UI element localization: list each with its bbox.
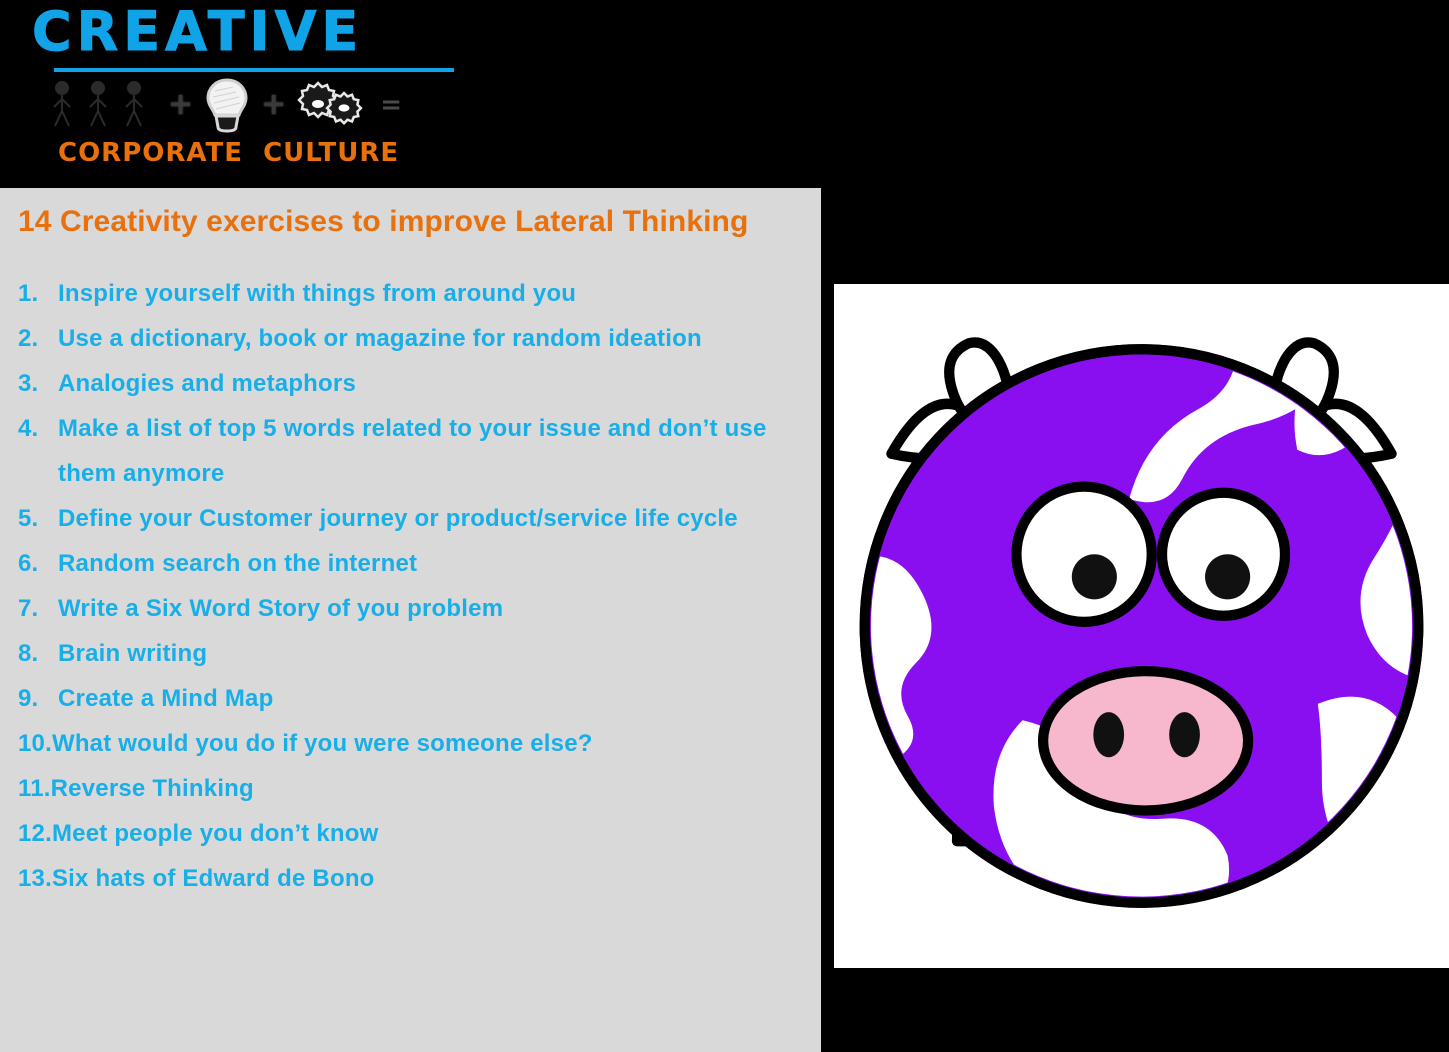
list-item: 9.Create a Mind Map [18, 676, 803, 721]
list-item-number: 5. [18, 496, 58, 541]
list-item-label: Make a list of top 5 words related to yo… [58, 406, 778, 496]
lightbulb-icon [203, 77, 251, 133]
list-item-label: Six hats of Edward de Bono [52, 856, 772, 901]
content-panel: 14 Creativity exercises to improve Later… [0, 188, 821, 1052]
list-item-number: 13. [18, 856, 52, 901]
list-item-number: 2. [18, 316, 58, 361]
list-item-number: 10. [18, 721, 52, 766]
list-item-label: Use a dictionary, book or magazine for r… [58, 316, 778, 361]
list-item-label: What would you do if you were someone el… [52, 721, 772, 766]
list-item-label: Random search on the internet [58, 541, 778, 586]
list-item: 1.Inspire yourself with things from arou… [18, 271, 803, 316]
list-item: 13.Six hats of Edward de Bono [18, 856, 803, 901]
plus-sign-icon: + [168, 90, 193, 120]
list-item: 7.Write a Six Word Story of you problem [18, 586, 803, 631]
list-item-label: Brain writing [58, 631, 778, 676]
list-item-label: Inspire yourself with things from around… [58, 271, 778, 316]
list-item: 12.Meet people you don’t know [18, 811, 803, 856]
list-item: 5.Define your Customer journey or produc… [18, 496, 803, 541]
gears-icon [296, 77, 368, 133]
list-item-label: Reverse Thinking [51, 766, 771, 811]
list-item-number: 8. [18, 631, 58, 676]
logo-wordmark: CREATIVE [32, 2, 363, 62]
list-item-label: Meet people you don’t know [52, 811, 772, 856]
list-item: 8.Brain writing [18, 631, 803, 676]
logo-equation-row: + + [52, 76, 452, 134]
list-item-number: 11. [18, 766, 51, 811]
list-item-number: 6. [18, 541, 58, 586]
list-item-number: 7. [18, 586, 58, 631]
logo-tagline: CORPORATE CULTURE [58, 138, 399, 168]
list-item-number: 3. [18, 361, 58, 406]
page-title: 14 Creativity exercises to improve Later… [18, 202, 803, 241]
brand-logo: CREATIVE [24, 2, 444, 177]
list-item: 2.Use a dictionary, book or magazine for… [18, 316, 803, 361]
list-item-label: Analogies and metaphors [58, 361, 778, 406]
list-item: 4.Make a list of top 5 words related to … [18, 406, 803, 496]
list-item-label: Define your Customer journey or product/… [58, 496, 778, 541]
logo-divider-rule [54, 68, 454, 72]
list-item-label: Write a Six Word Story of you problem [58, 586, 778, 631]
list-item: 10.What would you do if you were someone… [18, 721, 803, 766]
exercise-list: 1.Inspire yourself with things from arou… [18, 271, 803, 901]
list-item: 6.Random search on the internet [18, 541, 803, 586]
cow-illustration [834, 284, 1449, 968]
list-item-number: 4. [18, 406, 58, 451]
list-item: 3.Analogies and metaphors [18, 361, 803, 406]
list-item-number: 12. [18, 811, 52, 856]
list-item: 11.Reverse Thinking [18, 766, 803, 811]
plus-sign-icon-2: + [261, 90, 286, 120]
equals-sign-icon: = [380, 90, 400, 120]
list-item-number: 1. [18, 271, 58, 316]
people-icon [52, 79, 158, 131]
list-item-number: 9. [18, 676, 58, 721]
list-item-label: Create a Mind Map [58, 676, 778, 721]
